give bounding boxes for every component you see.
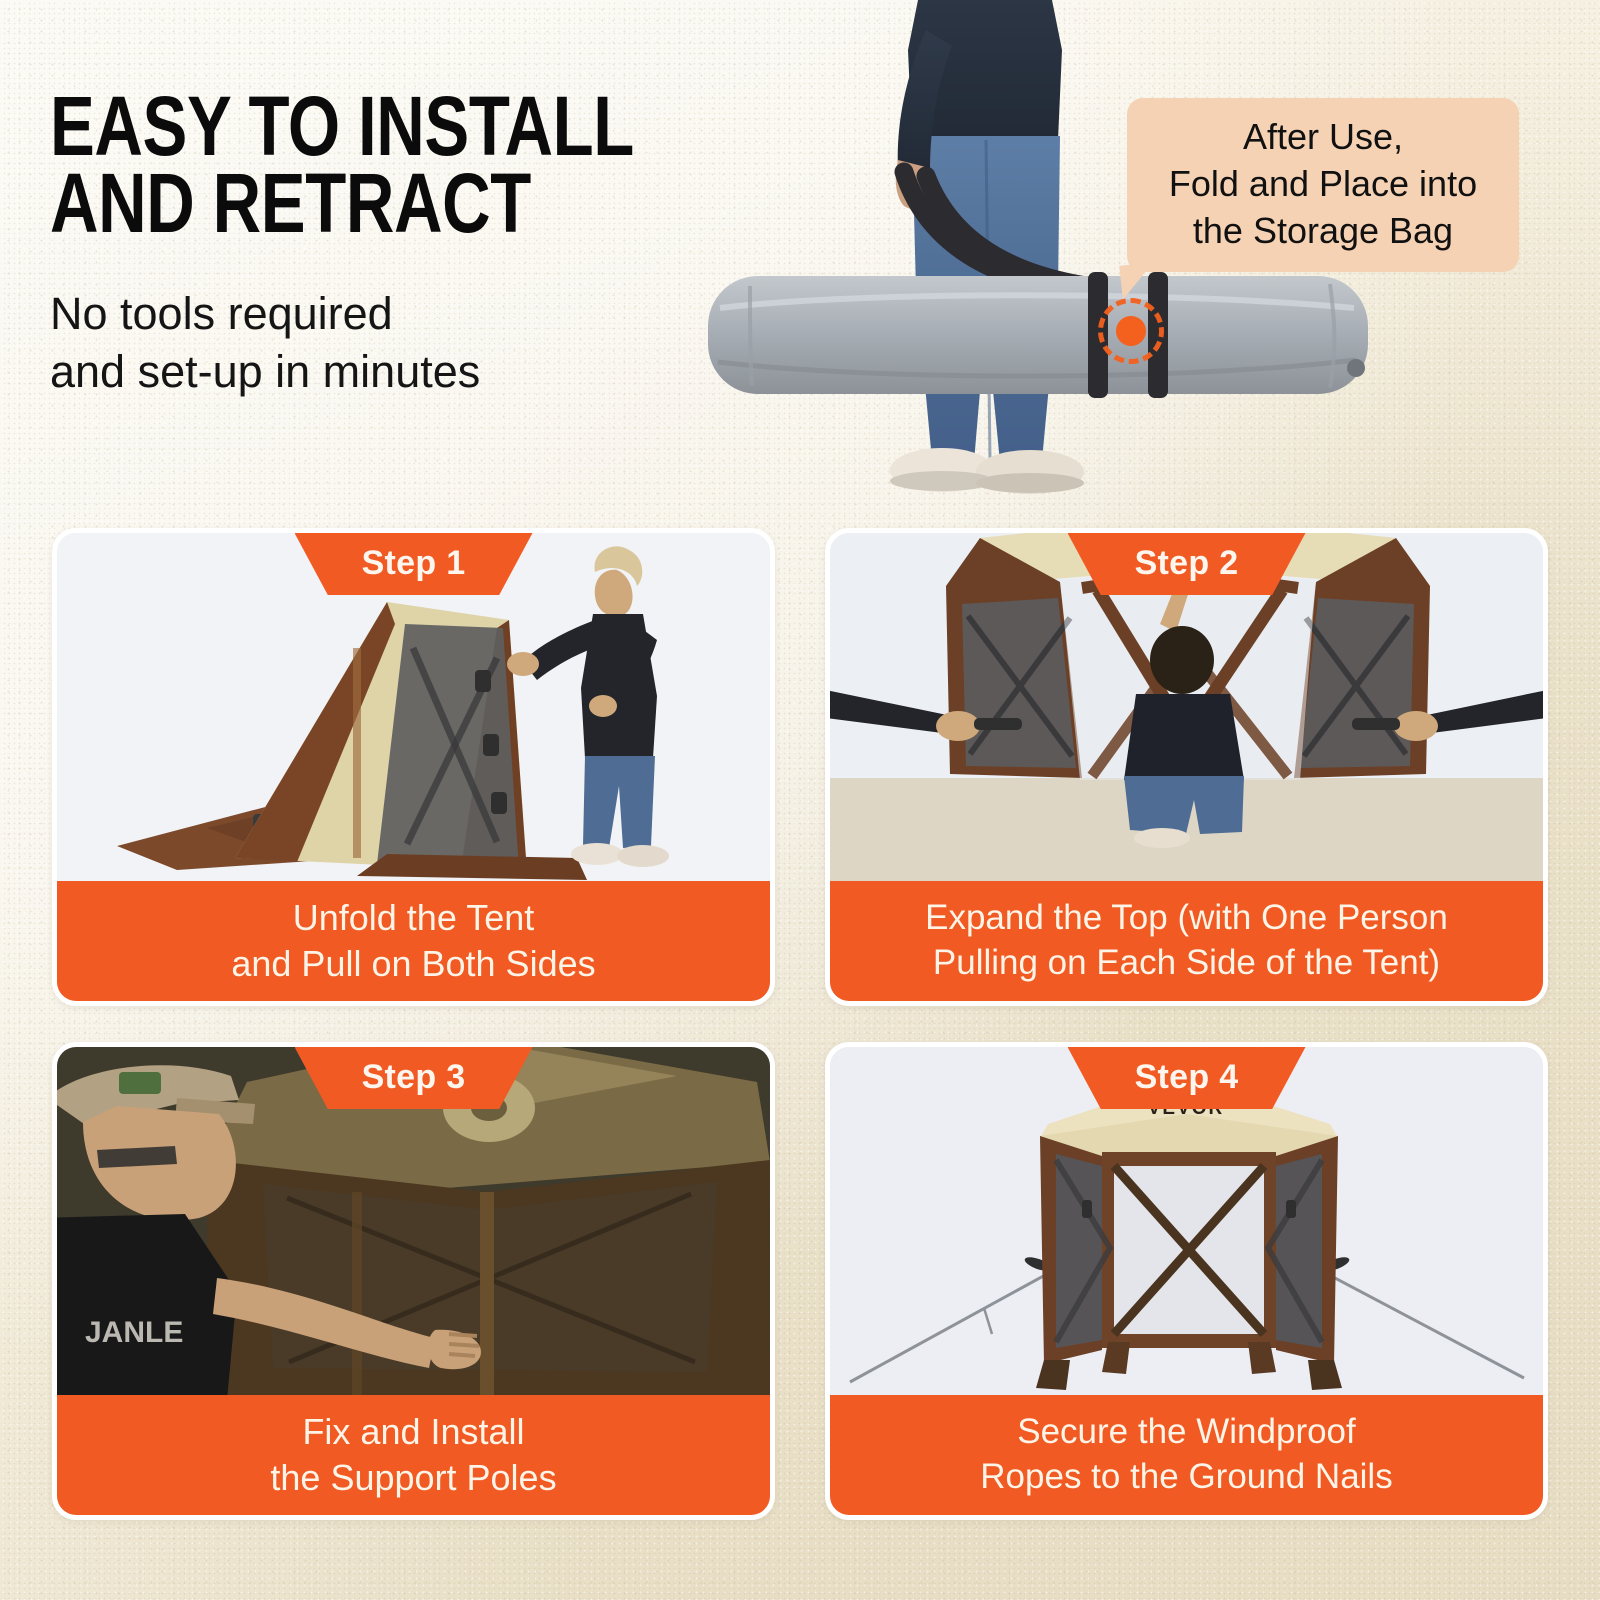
step-caption-2: Expand the Top (with One Person Pulling … [911,896,1462,986]
page-subheadline: No tools required and set-up in minutes [50,285,810,402]
step-caption-bar-3: Fix and Install the Support Poles [57,1395,770,1515]
tent-skirt [357,854,587,880]
step-badge-1: Step 1 [295,533,533,595]
helper-right-handle [1352,718,1400,730]
person-hand-upper [507,652,539,676]
center-person-head [1150,626,1214,694]
storage-bag-hotspot [1098,298,1164,364]
step-card-4: VEVOR [825,1042,1548,1520]
storage-bag-callout: After Use, Fold and Place into the Stora… [1127,98,1519,272]
step-badge-3-label: Step 3 [362,1060,466,1097]
step-badge-4: Step 4 [1068,1047,1306,1109]
step-badge-3: Step 3 [295,1047,533,1109]
center-person-jeans [1124,776,1244,834]
header-block: EASY TO INSTALL AND RETRACT No tools req… [50,88,810,402]
callout-tail [1119,263,1156,300]
step-caption-4: Secure the Windproof Ropes to the Ground… [966,1410,1406,1500]
step-caption-bar-2: Expand the Top (with One Person Pulling … [830,881,1543,1001]
bag-zipper-pull [1347,359,1365,377]
person-shoe-right [617,845,669,867]
helper-left-hand [936,711,980,741]
shirt-print: JANLE [85,1316,183,1349]
hotspot-dot-icon [1116,316,1146,346]
helper-right-hand [1394,711,1438,741]
callout-text: After Use, Fold and Place into the Stora… [1169,114,1477,254]
step-caption-1: Unfold the Tent and Pull on Both Sides [217,895,609,987]
step-caption-bar-4: Secure the Windproof Ropes to the Ground… [830,1395,1543,1515]
step-badge-4-label: Step 4 [1135,1060,1239,1097]
step-badge-1-label: Step 1 [362,546,466,583]
step-card-1: Step 1 Unfold the Tent and Pull on Both … [52,528,775,1006]
step-badge-2: Step 2 [1068,533,1306,595]
person-hand-lower [589,695,617,717]
infographic-page: After Use, Fold and Place into the Stora… [0,0,1600,1600]
step-card-3: JANLE Step 3 Fix and Install the Support… [52,1042,775,1520]
cap-logo [119,1072,161,1094]
center-person-shirt [1124,694,1244,780]
helper-left-handle [974,718,1022,730]
person-shoe-left [571,843,623,865]
page-headline: EASY TO INSTALL AND RETRACT [50,88,658,243]
step-caption-3: Fix and Install the Support Poles [256,1409,570,1501]
step-badge-2-label: Step 2 [1135,546,1239,583]
step-caption-bar-1: Unfold the Tent and Pull on Both Sides [57,881,770,1001]
step-card-2: Step 2 Expand the Top (with One Person P… [825,528,1548,1006]
step-card-grid: Step 1 Unfold the Tent and Pull on Both … [52,528,1548,1550]
